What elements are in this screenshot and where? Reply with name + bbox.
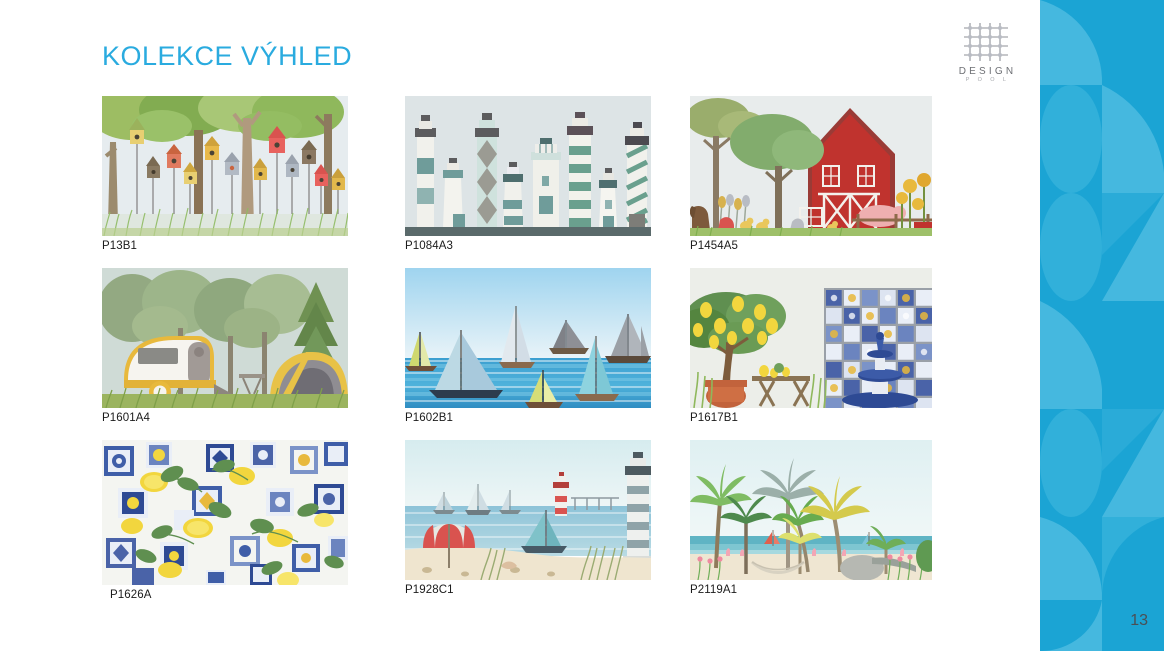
swatch-code: P1601A4	[102, 412, 348, 426]
red-barn-farm-image[interactable]	[690, 96, 932, 236]
swatch-grid: P13B1	[102, 96, 934, 602]
swatch-row: P1626A	[102, 440, 934, 603]
slide: KOLEKCE VÝHLED	[0, 0, 1164, 651]
page-title: KOLEKCE VÝHLED	[102, 41, 352, 72]
swatch-card[interactable]: P1617B1	[690, 268, 932, 426]
birdhouses-forest-image[interactable]	[102, 96, 348, 236]
page-number: 13	[1130, 612, 1148, 630]
swatch-row: P13B1	[102, 96, 934, 254]
camping-caravan-tent-image[interactable]	[102, 268, 348, 408]
swatch-code: P1928C1	[405, 584, 651, 598]
swatch-card[interactable]: P1601A4	[102, 268, 348, 426]
sailboats-sea-image[interactable]	[405, 268, 651, 408]
grid-logo-icon	[963, 22, 1009, 62]
swatch-code: P1617B1	[690, 412, 932, 426]
swatch-card[interactable]: P13B1	[102, 96, 348, 254]
logo-wordmark: DESIGN	[948, 66, 1024, 77]
beach-lighthouse-sailboats-image[interactable]	[405, 440, 651, 580]
palm-beach-hammock-image[interactable]	[690, 440, 932, 580]
lighthouses-image[interactable]	[405, 96, 651, 236]
swatch-row: P1601A4	[102, 268, 934, 426]
logo: DESIGN P O O L	[948, 22, 1024, 84]
swatch-code: P1626A	[102, 589, 348, 603]
swatch-code: P13B1	[102, 240, 348, 254]
lemons-and-blue-tiles-image[interactable]	[102, 440, 348, 585]
swatch-card[interactable]: P1928C1	[405, 440, 651, 603]
lemon-tree-azulejo-fountain-image[interactable]	[690, 268, 932, 408]
swatch-card[interactable]: P1084A3	[405, 96, 651, 254]
swatch-card[interactable]: P1626A	[102, 440, 348, 603]
swatch-code: P1602B1	[405, 412, 651, 426]
swatch-card[interactable]: P1602B1	[405, 268, 651, 426]
swatch-code: P1084A3	[405, 240, 651, 254]
logo-subtitle: P O O L	[948, 77, 1024, 85]
swatch-code: P1454A5	[690, 240, 932, 254]
swatch-card[interactable]: P1454A5	[690, 96, 932, 254]
swatch-card[interactable]: P2119A1	[690, 440, 932, 603]
swatch-code: P2119A1	[690, 584, 932, 598]
decorative-band: 13	[1040, 0, 1164, 651]
